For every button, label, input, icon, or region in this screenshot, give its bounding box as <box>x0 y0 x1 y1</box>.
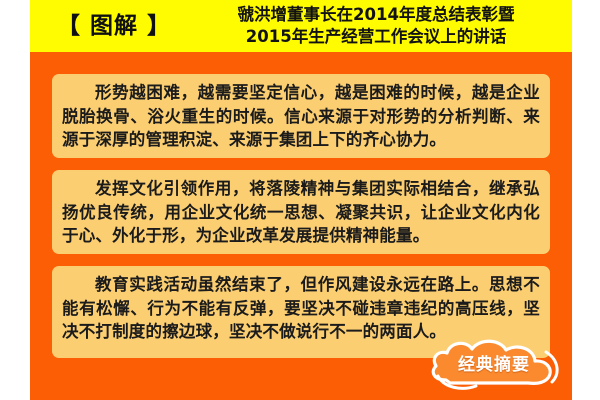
quote-panel-2: 发挥文化引领作用，将落陵精神与集团实际相结合，继承弘扬优良传统，用企业文化统一思… <box>52 170 550 254</box>
classic-excerpt-badge: 经典摘要 <box>428 336 572 392</box>
header-tag-label: 【 图解 】 <box>54 10 174 42</box>
quote-panel-1: 形势越困难，越需要坚定信心，越是困难的时候，越是企业脱胎换骨、浴火重生的时候。信… <box>52 74 550 158</box>
quote-panel-3-text: 教育实践活动虽然结束了，但作风建设永远在路上。思想不能有松懈、行为不能有反弹，要… <box>62 273 540 344</box>
page-title: 虢洪增董事长在2014年度总结表彰暨 2015年生产经营工作会议上的讲话 <box>190 4 562 48</box>
poster-canvas: 【 图解 】 虢洪增董事长在2014年度总结表彰暨 2015年生产经营工作会议上… <box>30 0 572 400</box>
quote-panel-1-text: 形势越困难，越需要坚定信心，越是困难的时候，越是企业脱胎换骨、浴火重生的时候。信… <box>62 81 540 152</box>
page-title-line-1: 虢洪增董事长在2014年度总结表彰暨 <box>190 4 562 26</box>
quote-panel-2-text: 发挥文化引领作用，将落陵精神与集团实际相结合，继承弘扬优良传统，用企业文化统一思… <box>62 177 540 248</box>
classic-excerpt-badge-label: 经典摘要 <box>428 350 560 375</box>
page-title-line-2: 2015年生产经营工作会议上的讲话 <box>190 26 562 48</box>
